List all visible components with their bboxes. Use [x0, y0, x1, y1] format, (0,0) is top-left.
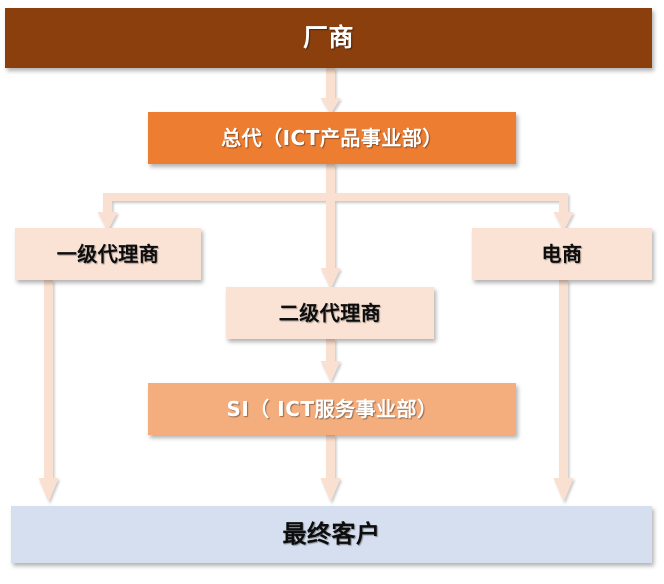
node-vendor-label: 厂商	[303, 24, 354, 52]
node-ecommerce-label: 电商	[542, 243, 583, 265]
node-tier1-agent-label: 一级代理商	[57, 243, 160, 265]
edge-vendor-to-master	[321, 68, 341, 114]
node-vendor[interactable]: 厂商	[5, 8, 652, 68]
edge-branch-bar	[103, 193, 568, 201]
node-tier2-agent[interactable]: 二级代理商	[226, 287, 434, 339]
edge-master-to-ecommerce	[554, 193, 574, 231]
node-si[interactable]: SI（ ICT服务事业部）	[148, 383, 516, 435]
edge-master-trunk	[326, 164, 335, 198]
edge-tier2-to-si	[321, 339, 341, 382]
node-master-agent[interactable]: 总代（ICT产品事业部）	[148, 112, 516, 164]
diagram-canvas: 厂商 总代（ICT产品事业部） 一级代理商 电商 二级代理商 SI（ ICT服务…	[0, 0, 664, 584]
edge-master-to-tier1	[98, 193, 118, 231]
node-master-agent-label: 总代（ICT产品事业部）	[221, 127, 443, 149]
node-tier2-agent-label: 二级代理商	[279, 302, 382, 324]
node-end-customer[interactable]: 最终客户	[11, 506, 652, 563]
edge-ecommerce-to-customer	[554, 280, 574, 502]
node-tier1-agent[interactable]: 一级代理商	[15, 228, 201, 280]
node-end-customer-label: 最终客户	[283, 521, 381, 547]
node-si-label: SI（ ICT服务事业部）	[226, 398, 437, 420]
edge-master-to-tier2	[321, 198, 341, 289]
edge-tier1-to-customer	[39, 280, 59, 502]
edge-si-to-customer	[321, 435, 341, 502]
node-ecommerce[interactable]: 电商	[472, 228, 652, 280]
